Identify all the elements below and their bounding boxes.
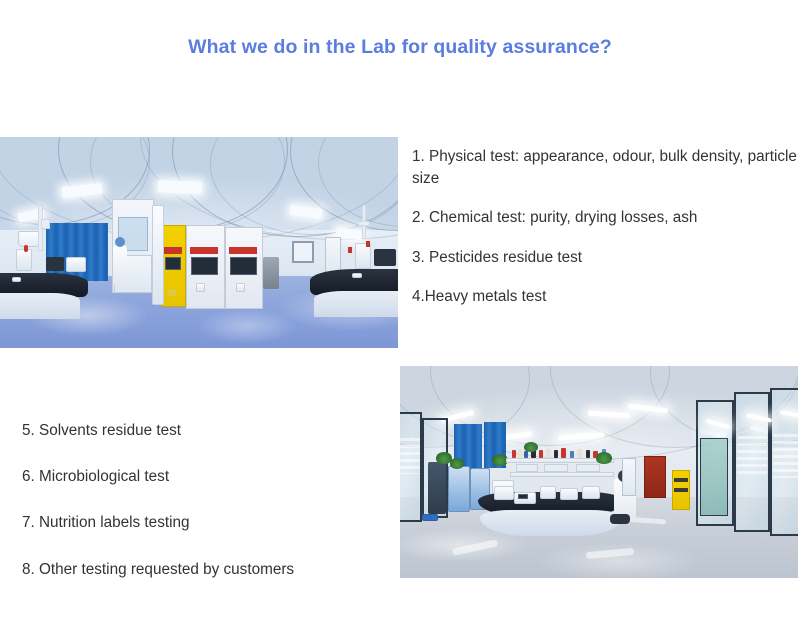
ceiling-light [158, 180, 202, 194]
wall-sticker [348, 247, 352, 253]
lab-instrument [540, 486, 556, 499]
storage-unit [263, 257, 279, 289]
page-title: What we do in the Lab for quality assura… [0, 36, 800, 59]
panorama-scene-bottom [400, 366, 798, 578]
potted-plant [596, 452, 612, 464]
lab-sample [12, 277, 21, 282]
technician-head [115, 237, 125, 247]
potted-plant [524, 442, 538, 452]
reagent-bottle [561, 448, 566, 458]
tall-storage-cabinet [428, 462, 446, 514]
equipment-warning-label [229, 247, 257, 254]
list-item: 1. Physical test: appearance, odour, bul… [412, 146, 800, 190]
lab-sample [352, 273, 362, 278]
emergency-door [644, 456, 666, 498]
equipment-display [230, 257, 257, 275]
glass-door [700, 438, 728, 516]
list-item: 4.Heavy metals test [412, 286, 800, 308]
lab-instrument [46, 257, 64, 271]
hazard-sticker [196, 283, 205, 292]
reagent-bottle [518, 449, 522, 458]
lab-photo-analytical [0, 137, 398, 348]
list-item: 8. Other testing requested by customers [22, 559, 392, 581]
lab-instrument [66, 257, 86, 272]
lab-bench-base-left [0, 293, 80, 319]
reagent-bottle [524, 451, 528, 458]
list-item: 2. Chemical test: purity, drying losses,… [412, 207, 800, 229]
wall-notice-frame [292, 241, 314, 263]
reagent-bottle [586, 450, 590, 458]
equipment-warning-label [190, 247, 218, 254]
lab-photo-testing [400, 366, 798, 578]
ceiling-service-pole [41, 219, 50, 229]
hazard-sticker [236, 283, 245, 292]
lab-stool [610, 514, 630, 524]
corridor-door [622, 458, 636, 496]
laboratory-incubator [448, 466, 470, 512]
instrument-display [518, 494, 528, 499]
potted-plant [450, 458, 464, 469]
lab-instrument [494, 486, 514, 500]
cabinet-warning-label [674, 478, 688, 482]
glass-frost-band [773, 434, 798, 478]
glass-frost-band [737, 436, 767, 478]
test-list-left: 5. Solvents residue test 6. Microbiologi… [22, 420, 392, 605]
cabinet-warning-label [674, 488, 688, 492]
reagent-bottle [512, 450, 516, 458]
reagent-bottle [546, 449, 551, 458]
list-item: 7. Nutrition labels testing [22, 512, 392, 534]
list-item: 5. Solvents residue test [22, 420, 392, 442]
lab-instrument [16, 249, 32, 271]
cabinet-window [165, 257, 181, 270]
lab-bench-base-right [314, 291, 398, 317]
technician-white-coat [113, 245, 127, 285]
slide-root: What we do in the Lab for quality assura… [0, 0, 800, 636]
reagent-bottle [577, 449, 582, 458]
panorama-scene-top [0, 137, 398, 348]
equipment-display [191, 257, 218, 275]
warning-label [366, 241, 370, 247]
lab-instrument [560, 488, 578, 500]
glassware-rack [516, 464, 538, 472]
reagent-bottle [570, 451, 574, 458]
cabinet-hazard-sticker [168, 289, 176, 296]
blue-box-on-floor [422, 514, 438, 521]
test-list-right: 1. Physical test: appearance, odour, bul… [412, 146, 800, 308]
glassware-rack [576, 464, 600, 472]
glassware-rack [544, 464, 568, 472]
ceiling-service-arm [358, 221, 370, 226]
reagent-bottle [554, 450, 558, 458]
air-conditioner [18, 231, 40, 247]
list-item: 6. Microbiological test [22, 466, 392, 488]
curved-lab-bench-base [480, 510, 622, 536]
glass-frost-band [400, 438, 420, 474]
reagent-bottle [539, 450, 543, 458]
cabinet-warning-label [164, 247, 182, 254]
warning-label [24, 245, 28, 252]
computer-monitor [374, 249, 396, 266]
reagent-shelf [510, 472, 614, 477]
wall-partition [152, 205, 164, 305]
list-item: 3. Pesticides residue test [412, 247, 800, 269]
lab-instrument [582, 486, 600, 499]
